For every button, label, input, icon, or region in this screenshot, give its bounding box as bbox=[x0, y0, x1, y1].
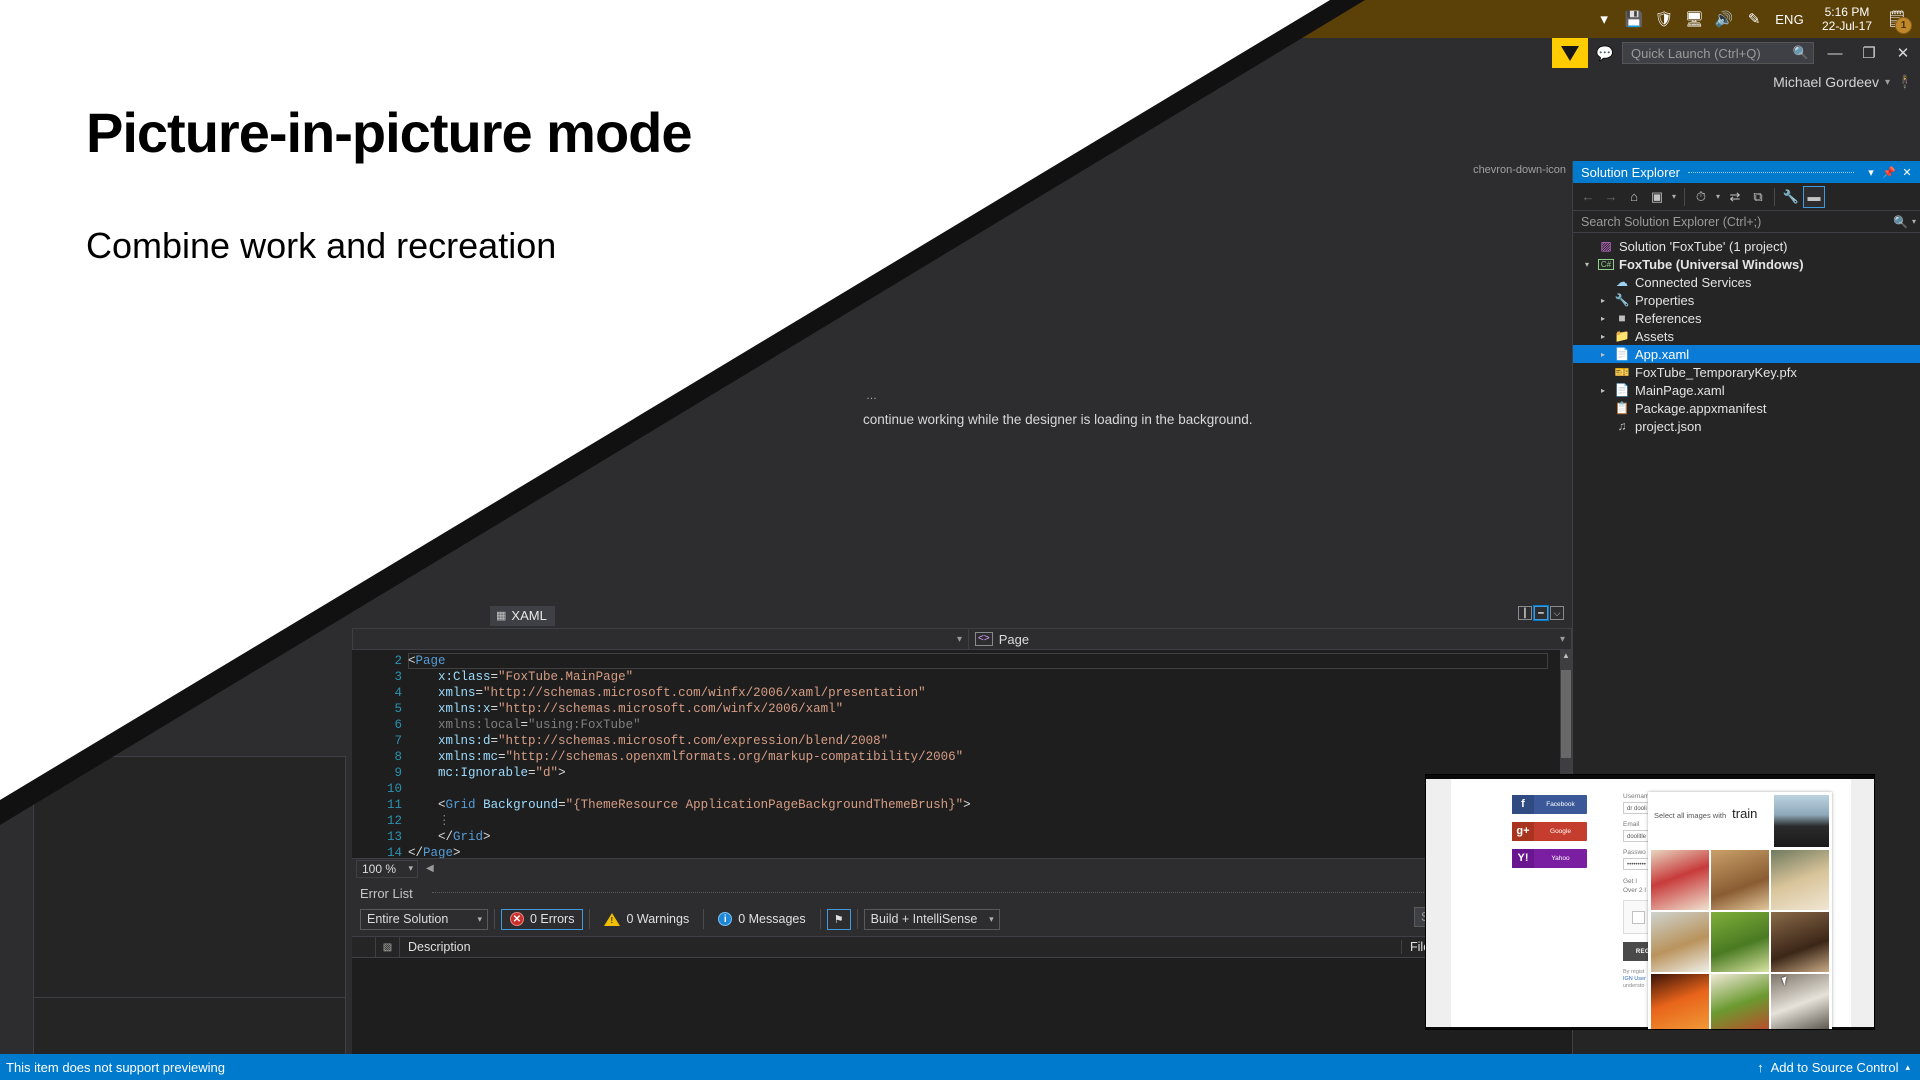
chevron-down-icon[interactable]: ▾ bbox=[1885, 77, 1890, 88]
action-center-icon[interactable]: 🗒 1 bbox=[1880, 1, 1914, 37]
pancakes-coffee-photo[interactable] bbox=[1771, 850, 1829, 910]
solution-explorer-search-placeholder: Search Solution Explorer (Ctrl+;) bbox=[1581, 215, 1761, 229]
pin-button[interactable]: 📌 bbox=[1880, 166, 1898, 179]
line-number: 12 bbox=[352, 813, 408, 829]
dropdown-button[interactable]: ▾ bbox=[1862, 166, 1880, 179]
chevron-up-icon[interactable]: ▴ bbox=[1905, 1062, 1910, 1073]
toolbar-separator bbox=[1684, 188, 1685, 206]
toolbar-separator bbox=[820, 909, 821, 929]
home-button[interactable]: ⌂ bbox=[1623, 186, 1645, 208]
volume-icon[interactable]: 🔊 bbox=[1709, 1, 1739, 37]
social-login-label: Google bbox=[1534, 828, 1587, 835]
pip-web-page: fFacebookg+GoogleY!Yahoo Usernam dr dool… bbox=[1426, 779, 1875, 1027]
designer-left-pane-lower bbox=[33, 998, 346, 1059]
captcha-prompt: Select all images with train bbox=[1648, 792, 1774, 850]
designer-loading-dots: … bbox=[866, 390, 878, 402]
terms-line-1: By regist bbox=[1623, 969, 1644, 975]
chevron-down-icon[interactable]: ▾ bbox=[1669, 192, 1679, 201]
chevron-down-icon: ▾ bbox=[957, 634, 962, 645]
code-line[interactable]: ⋮ bbox=[408, 813, 1572, 829]
build-filter-dropdown[interactable]: Build + IntelliSense ▾ bbox=[864, 909, 1000, 930]
folder-icon: 📁 bbox=[1614, 329, 1630, 343]
feedback-icon[interactable]: 💬 bbox=[1588, 38, 1622, 68]
chevron-down-icon[interactable]: ▾ bbox=[1912, 217, 1916, 226]
build-filter-value: Build + IntelliSense bbox=[871, 912, 978, 926]
terms-link[interactable]: IGN User bbox=[1623, 976, 1646, 982]
type-dropdown[interactable]: <> Page ▾ bbox=[969, 628, 1572, 650]
page-title: Picture-in-picture mode bbox=[86, 100, 692, 165]
sync-with-active-document-button[interactable]: ⇄ bbox=[1724, 186, 1746, 208]
scope-dropdown-value: Entire Solution bbox=[367, 912, 448, 926]
tree-item-properties[interactable]: ▸🔧Properties bbox=[1573, 291, 1920, 309]
line-number: 9 bbox=[352, 765, 408, 781]
usb-icon[interactable]: 💾 bbox=[1619, 1, 1649, 37]
manifest-icon: 📋 bbox=[1614, 401, 1630, 415]
expander-icon[interactable]: ▸ bbox=[1597, 350, 1609, 359]
chevron-down-icon[interactable]: ▾ bbox=[1713, 192, 1723, 201]
picture-in-picture-window[interactable]: fFacebookg+GoogleY!Yahoo Usernam dr dool… bbox=[1425, 774, 1875, 1030]
solution-tree[interactable]: ▨Solution 'FoxTube' (1 project)▾C#FoxTub… bbox=[1573, 233, 1920, 435]
line-number: 4 bbox=[352, 685, 408, 701]
member-dropdown[interactable]: ▾ bbox=[352, 628, 969, 650]
tree-item-mainpage-xaml[interactable]: ▸📄MainPage.xaml bbox=[1573, 381, 1920, 399]
pen-icon[interactable]: ✎ bbox=[1739, 1, 1769, 37]
solution-view-button[interactable]: ▣ bbox=[1646, 186, 1668, 208]
clock-date: 22-Jul-17 bbox=[1822, 19, 1872, 33]
google-icon: g+ bbox=[1512, 822, 1534, 841]
tree-item-label: References bbox=[1635, 311, 1701, 326]
toolbar-separator bbox=[589, 909, 590, 929]
scope-dropdown[interactable]: Entire Solution ▾ bbox=[360, 909, 488, 930]
tree-item-label: App.xaml bbox=[1635, 347, 1689, 362]
screen: ▾ 💾 🛡 🖥 🔊 ✎ ENG 5:16 PM 22-Jul-17 🗒 1 💬 … bbox=[0, 0, 1920, 1080]
column-select[interactable] bbox=[352, 936, 376, 958]
xaml-file-icon: 📄 bbox=[1614, 347, 1630, 361]
editor-split-buttons: ┃ ━ ⌵ bbox=[1518, 606, 1564, 620]
recaptcha-checkbox[interactable] bbox=[1632, 911, 1645, 924]
forward-button[interactable]: → bbox=[1600, 186, 1622, 208]
terms-line-3: understo bbox=[1623, 983, 1644, 989]
warning-icon bbox=[604, 913, 620, 926]
captcha-header: Select all images with train bbox=[1648, 792, 1832, 850]
chevron-down-icon: ▾ bbox=[477, 914, 482, 925]
vs-user-bar: Michael Gordeev ▾ 🕴 bbox=[1520, 68, 1920, 96]
clock[interactable]: 5:16 PM 22-Jul-17 bbox=[1814, 5, 1880, 33]
error-icon: ✕ bbox=[510, 912, 524, 926]
code-line[interactable]: xmlns:mc="http://schemas.openxmlformats.… bbox=[408, 749, 1572, 765]
minimize-button[interactable]: — bbox=[1818, 38, 1852, 68]
coffee-beans-cup-photo[interactable] bbox=[1771, 912, 1829, 972]
tree-item-foxtube-temporarykey-pfx[interactable]: 🎫FoxTube_TemporaryKey.pfx bbox=[1573, 363, 1920, 381]
certificate-icon: 🎫 bbox=[1614, 365, 1630, 379]
clear-filter-icon[interactable]: ⚑ bbox=[827, 909, 851, 930]
toolbar-separator bbox=[857, 909, 858, 929]
code-line[interactable]: xmlns:local="using:FoxTube" bbox=[408, 717, 1572, 733]
refresh-button[interactable]: ⧉ bbox=[1747, 186, 1769, 208]
breakfast-plate-photo[interactable] bbox=[1651, 912, 1709, 972]
tree-item-project-json[interactable]: ♫project.json bbox=[1573, 417, 1920, 435]
language-indicator[interactable]: ENG bbox=[1769, 12, 1814, 27]
network-icon[interactable]: 🖥 bbox=[1679, 1, 1709, 37]
chevron-down-icon: ▾ bbox=[989, 914, 994, 925]
line-number: 6 bbox=[352, 717, 408, 733]
line-number: 10 bbox=[352, 781, 408, 797]
xaml-file-icon: ▦ bbox=[496, 609, 506, 622]
header-divider bbox=[1688, 172, 1854, 173]
tree-item-connected-services[interactable]: ☁Connected Services bbox=[1573, 273, 1920, 291]
csharp-project-icon: C# bbox=[1598, 259, 1614, 270]
line-number: 14 bbox=[352, 845, 408, 858]
social-login-facebook-button[interactable]: fFacebook bbox=[1512, 795, 1587, 814]
tree-item-foxtube-universal-windows[interactable]: ▾C#FoxTube (Universal Windows) bbox=[1573, 255, 1920, 273]
zoom-level-value: 100 % bbox=[362, 862, 396, 876]
solution-explorer-header: Solution Explorer ▾ 📌 ✕ bbox=[1573, 161, 1920, 183]
line-number: 5 bbox=[352, 701, 408, 717]
code-line[interactable]: <Grid Background="{ThemeResource Applica… bbox=[408, 797, 1572, 813]
preview-selected-items-button[interactable]: ▬ bbox=[1803, 186, 1825, 208]
info-icon: i bbox=[718, 912, 732, 926]
editor-zoom-bar: 100 % ▾ ◀ bbox=[352, 858, 1572, 878]
line-number: 3 bbox=[352, 669, 408, 685]
restore-button[interactable]: ❐ bbox=[1852, 38, 1886, 68]
xaml-code-editor[interactable]: 234567891011121314 <Page x:Class="FoxTub… bbox=[352, 650, 1572, 858]
social-login-label: Yahoo bbox=[1534, 855, 1587, 862]
line-number: 8 bbox=[352, 749, 408, 765]
tree-item-assets[interactable]: ▸📁Assets bbox=[1573, 327, 1920, 345]
coffee-cup-pastry-photo[interactable] bbox=[1771, 974, 1829, 1030]
upload-icon: ↑ bbox=[1757, 1060, 1764, 1075]
status-message: This item does not support previewing bbox=[0, 1060, 225, 1075]
chevron-down-icon: ▾ bbox=[408, 863, 413, 874]
references-icon: ■ bbox=[1614, 311, 1630, 325]
tree-item-label: FoxTube_TemporaryKey.pfx bbox=[1635, 365, 1797, 380]
expander-icon[interactable]: ▸ bbox=[1597, 386, 1609, 395]
type-dropdown-value: Page bbox=[999, 632, 1029, 647]
code-line[interactable]: xmlns="http://schemas.microsoft.com/winf… bbox=[408, 685, 1572, 701]
line-number-gutter: 234567891011121314 bbox=[352, 650, 408, 858]
properties-icon: 🔧 bbox=[1614, 293, 1630, 307]
tree-item-label: Solution 'FoxTube' (1 project) bbox=[1619, 239, 1788, 254]
error-list-panel: Error List Entire Solution ▾ ✕ 0 Errors bbox=[352, 880, 1572, 1080]
xaml-file-icon: 📄 bbox=[1614, 383, 1630, 397]
tree-item-label: Package.appxmanifest bbox=[1635, 401, 1767, 416]
designer-left-pane-upper bbox=[33, 756, 346, 998]
collapse-pane-button[interactable]: ⌵ bbox=[1550, 606, 1564, 620]
scroll-left-icon[interactable]: ◀ bbox=[426, 863, 434, 874]
solution-explorer-search-input[interactable]: Search Solution Explorer (Ctrl+;) 🔍 ▾ bbox=[1573, 211, 1920, 233]
chevron-down-icon[interactable]: chevron-down-icon bbox=[1473, 164, 1566, 176]
code-line[interactable]: xmlns:d="http://schemas.microsoft.com/ex… bbox=[408, 733, 1572, 749]
solution-icon: ▨ bbox=[1598, 239, 1614, 253]
chevron-up-icon[interactable]: ▾ bbox=[1589, 1, 1619, 37]
avatar-icon[interactable]: 🕴 bbox=[1896, 73, 1912, 91]
errors-toggle-button[interactable]: ✕ 0 Errors bbox=[501, 909, 583, 930]
connected-services-icon: ☁ bbox=[1614, 275, 1630, 289]
back-button[interactable]: ← bbox=[1577, 186, 1599, 208]
tree-item-label: project.json bbox=[1635, 419, 1701, 434]
steam-train-photo bbox=[1774, 795, 1829, 847]
mixed-salad-photo[interactable] bbox=[1711, 974, 1769, 1030]
expander-icon[interactable]: ▸ bbox=[1597, 314, 1609, 323]
facebook-icon: f bbox=[1512, 795, 1534, 814]
tree-item-label: FoxTube (Universal Windows) bbox=[1619, 257, 1804, 272]
search-icon[interactable]: 🔍 bbox=[1893, 215, 1908, 229]
pending-changes-button[interactable]: ⏱ bbox=[1690, 186, 1712, 208]
page-subtitle: Combine work and recreation bbox=[86, 225, 556, 267]
panel-title-divider bbox=[432, 892, 1562, 893]
messages-count-label: 0 Messages bbox=[738, 912, 805, 926]
toolbar-separator bbox=[1774, 188, 1775, 206]
code-line[interactable]: x:Class="FoxTube.MainPage" bbox=[408, 669, 1572, 685]
line-number: 11 bbox=[352, 797, 408, 813]
tree-item-app-xaml[interactable]: ▸📄App.xaml bbox=[1573, 345, 1920, 363]
column-description[interactable]: Description bbox=[400, 940, 1402, 954]
error-list-column-headers: ▧ Description File bbox=[352, 936, 1572, 958]
split-horizontal-button[interactable]: ━ bbox=[1534, 606, 1548, 620]
error-list-toolbar: Entire Solution ▾ ✕ 0 Errors 0 Warnings bbox=[360, 906, 1564, 932]
dessert-cup-photo[interactable] bbox=[1711, 850, 1769, 910]
notification-count-badge: 1 bbox=[1895, 17, 1912, 34]
pip-registration-card: fFacebookg+GoogleY!Yahoo Usernam dr dool… bbox=[1451, 779, 1851, 1027]
code-line[interactable]: <Page bbox=[408, 653, 1572, 669]
designer-loading-message: continue working while the designer is l… bbox=[863, 412, 1253, 427]
tree-item-solution-foxtube-1-project[interactable]: ▨Solution 'FoxTube' (1 project) bbox=[1573, 237, 1920, 255]
captcha-dialog[interactable]: Select all images with train bbox=[1648, 792, 1832, 1030]
tag-icon: <> bbox=[975, 632, 993, 646]
error-list-title: Error List bbox=[360, 886, 413, 901]
scrollbar-thumb[interactable] bbox=[1561, 670, 1571, 758]
search-icon: 🔍 bbox=[1793, 45, 1809, 61]
code-text[interactable]: <Page x:Class="FoxTube.MainPage" xmlns="… bbox=[408, 650, 1572, 858]
tree-item-label: Assets bbox=[1635, 329, 1674, 344]
toolbar-separator bbox=[494, 909, 495, 929]
code-line[interactable]: mc:Ignorable="d"> bbox=[408, 765, 1572, 781]
social-login-label: Facebook bbox=[1534, 801, 1587, 808]
status-bar-right: ↑ Add to Source Control ▴ bbox=[1757, 1060, 1920, 1075]
errors-count-label: 0 Errors bbox=[530, 912, 574, 926]
solution-explorer-toolbar: ← → ⌂ ▣ ▾ ⏱ ▾ ⇄ ⧉ 🔧 ▬ bbox=[1573, 183, 1920, 211]
social-login-google-button[interactable]: g+Google bbox=[1512, 822, 1587, 841]
zoom-level-dropdown[interactable]: 100 % ▾ bbox=[356, 860, 418, 878]
expander-icon[interactable]: ▸ bbox=[1597, 296, 1609, 305]
captcha-image-grid[interactable] bbox=[1648, 850, 1832, 1030]
code-line[interactable] bbox=[408, 781, 1572, 797]
solution-explorer-title: Solution Explorer bbox=[1581, 165, 1680, 180]
messages-toggle-button[interactable]: i 0 Messages bbox=[710, 909, 813, 930]
expander-icon[interactable]: ▸ bbox=[1597, 332, 1609, 341]
clock-time: 5:16 PM bbox=[1822, 5, 1872, 19]
split-vertical-button[interactable]: ┃ bbox=[1518, 606, 1532, 620]
warnings-count-label: 0 Warnings bbox=[626, 912, 689, 926]
captcha-prompt-text: Select all images with bbox=[1654, 811, 1726, 820]
yahoo-icon: Y! bbox=[1512, 849, 1534, 868]
code-line[interactable]: </Page> bbox=[408, 845, 1572, 858]
foxtube-logo bbox=[1552, 38, 1588, 68]
properties-button[interactable]: 🔧 bbox=[1780, 186, 1802, 208]
strawberry-cake-photo[interactable] bbox=[1651, 850, 1709, 910]
line-number: 13 bbox=[352, 829, 408, 845]
social-login-buttons: fFacebookg+GoogleY!Yahoo bbox=[1512, 795, 1587, 876]
green-salad-photo[interactable] bbox=[1711, 912, 1769, 972]
tree-item-references[interactable]: ▸■References bbox=[1573, 309, 1920, 327]
checkbox-line-2: Over 2 I bbox=[1623, 887, 1646, 894]
status-bar: This item does not support previewing ↑ … bbox=[0, 1054, 1920, 1080]
expander-icon[interactable]: ▾ bbox=[1581, 260, 1593, 269]
line-number: 7 bbox=[352, 733, 408, 749]
editor-navigation-bar: ▾ <> Page ▾ bbox=[352, 628, 1572, 650]
tree-item-label: MainPage.xaml bbox=[1635, 383, 1725, 398]
chevron-down-icon: ▾ bbox=[1560, 634, 1565, 645]
line-number: 2 bbox=[352, 653, 408, 669]
tree-item-package-appxmanifest[interactable]: 📋Package.appxmanifest bbox=[1573, 399, 1920, 417]
captcha-target-word: train bbox=[1732, 806, 1757, 821]
add-to-source-control-button[interactable]: Add to Source Control bbox=[1771, 1060, 1899, 1075]
defender-icon[interactable]: 🛡 bbox=[1649, 1, 1679, 37]
code-line[interactable]: xmlns:x="http://schemas.microsoft.com/wi… bbox=[408, 701, 1572, 717]
scroll-up-icon[interactable]: ▲ bbox=[1560, 650, 1572, 662]
tab-xaml[interactable]: ▦ XAML bbox=[490, 606, 555, 626]
close-button[interactable]: ✕ bbox=[1898, 166, 1916, 179]
column-severity-icon[interactable]: ▧ bbox=[376, 936, 400, 958]
tab-xaml-label: XAML bbox=[511, 608, 546, 623]
json-file-icon: ♫ bbox=[1614, 419, 1630, 433]
close-button[interactable]: ✕ bbox=[1886, 38, 1920, 68]
checkbox-line-1: Get I bbox=[1623, 878, 1637, 885]
tree-item-label: Connected Services bbox=[1635, 275, 1751, 290]
quick-launch-placeholder: Quick Launch (Ctrl+Q) bbox=[1631, 46, 1793, 61]
user-name[interactable]: Michael Gordeev bbox=[1773, 74, 1879, 90]
code-line[interactable]: </Grid> bbox=[408, 829, 1572, 845]
quick-launch-input[interactable]: Quick Launch (Ctrl+Q) 🔍 bbox=[1622, 42, 1814, 64]
social-login-yahoo-button[interactable]: Y!Yahoo bbox=[1512, 849, 1587, 868]
tree-item-label: Properties bbox=[1635, 293, 1694, 308]
warnings-toggle-button[interactable]: 0 Warnings bbox=[596, 909, 697, 930]
orange-fruit-bowl-photo[interactable] bbox=[1651, 974, 1709, 1030]
toolbar-separator bbox=[703, 909, 704, 929]
